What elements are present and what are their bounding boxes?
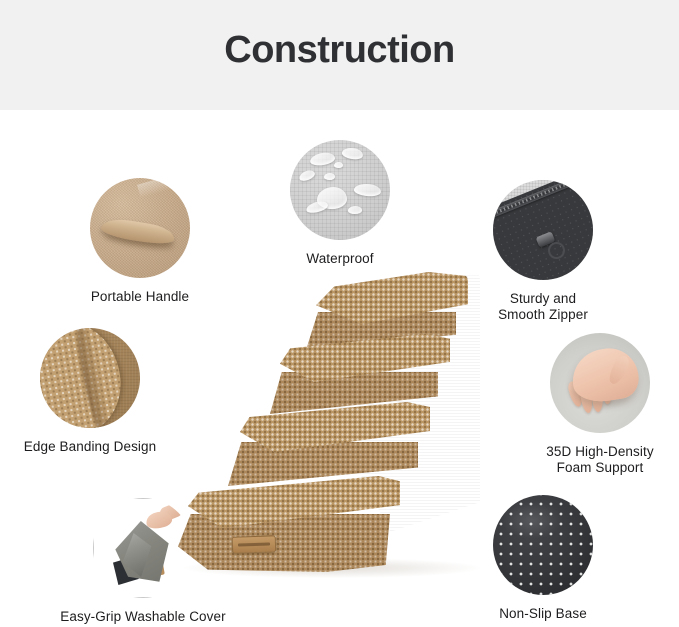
infographic-page: Construction Portable Handle (0, 0, 679, 627)
page-title: Construction (0, 29, 679, 72)
foam-support-icon (550, 333, 650, 433)
feature-foam-support: 35D High-Density Foam Support (500, 333, 679, 476)
product-image-pet-stairs (170, 262, 510, 582)
feature-label-edge-banding-design: Edge Banding Design (0, 439, 190, 455)
feature-label-non-slip-base: Non-Slip Base (443, 606, 643, 622)
product-step-1-riser (178, 514, 390, 572)
feature-waterproof: Waterproof (240, 140, 440, 267)
waterproof-icon (290, 140, 390, 240)
product-logo-tag (232, 535, 277, 554)
edge-banding-icon (40, 328, 140, 428)
feature-label-foam-support: 35D High-Density Foam Support (500, 444, 679, 476)
feature-label-easy-grip-washable-cover: Easy-Grip Washable Cover (43, 609, 243, 625)
feature-edge-banding-design: Edge Banding Design (0, 328, 190, 455)
